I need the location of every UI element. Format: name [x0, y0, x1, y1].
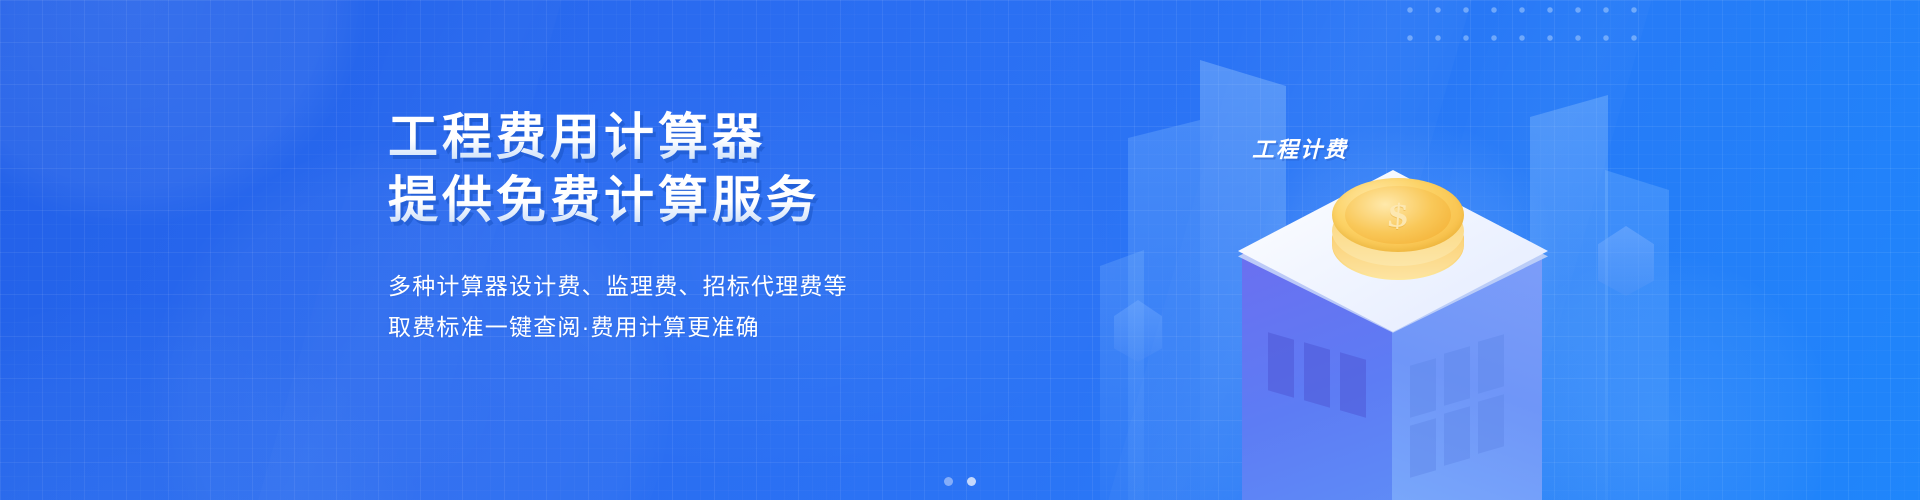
- decorative-glow-top-left: [0, 0, 370, 230]
- banner-headline-line-1: 工程费用计算器: [388, 108, 1008, 167]
- carousel-dot-1[interactable]: [944, 477, 953, 486]
- decorative-glow-bottom-left: [0, 300, 440, 500]
- decorative-tower-4: [1605, 170, 1669, 500]
- carousel-indicator[interactable]: [0, 477, 1920, 486]
- illustration-label: 工程计费: [1252, 132, 1348, 164]
- banner-text-block: 工程费用计算器 提供免费计算服务 多种计算器设计费、监理费、招标代理费等 取费标…: [388, 108, 1008, 348]
- gold-coin-stack-icon: $: [1332, 178, 1464, 294]
- banner-illustration: $ 工程计费: [1100, 0, 1660, 500]
- banner-headline-line-2: 提供免费计算服务: [388, 171, 1008, 230]
- banner-subtitle-line-2: 取费标准一键查阅·费用计算更准确: [388, 307, 1008, 348]
- dollar-sign-icon: $: [1330, 185, 1466, 246]
- banner-subtitle-line-1: 多种计算器设计费、监理费、招标代理费等: [388, 266, 1008, 307]
- carousel-dot-2[interactable]: [967, 477, 976, 486]
- banner-subtitle-block: 多种计算器设计费、监理费、招标代理费等 取费标准一键查阅·费用计算更准确: [388, 266, 1008, 348]
- hero-banner: 工程费用计算器 提供免费计算服务 多种计算器设计费、监理费、招标代理费等 取费标…: [0, 0, 1920, 500]
